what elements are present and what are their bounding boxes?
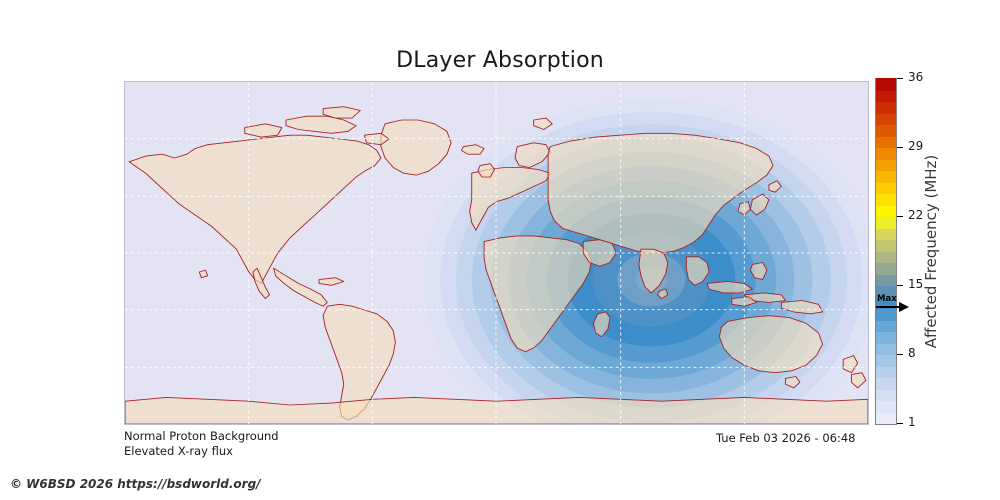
timestamp: Tue Feb 03 2026 - 06:48 bbox=[716, 431, 855, 445]
world-map[interactable] bbox=[124, 81, 869, 425]
page-title: DLayer Absorption bbox=[0, 48, 1000, 73]
note-xray-flux: Elevated X-ray flux bbox=[124, 444, 233, 458]
credit-line: © W6BSD 2026 https://bsdworld.org/ bbox=[10, 477, 261, 491]
colorbar-axis-label: Affected Frequency (MHz) bbox=[920, 78, 942, 425]
colorbar-tick-dash bbox=[897, 354, 903, 355]
map-gridlines bbox=[125, 82, 868, 424]
colorbar-tick-dash bbox=[897, 147, 903, 148]
colorbar-tick-dash bbox=[897, 423, 903, 424]
colorbar-tick-dash bbox=[897, 216, 903, 217]
colorbar-tick-label: 8 bbox=[908, 346, 916, 360]
colorbar-tick-dash bbox=[897, 285, 903, 286]
dlayer-absorption-map-page: DLayer Absorption bbox=[0, 0, 1000, 500]
colorbar-tick-label: 1 bbox=[908, 415, 916, 429]
colorbar-tick-dash bbox=[897, 78, 903, 79]
note-proton-background: Normal Proton Background bbox=[124, 429, 279, 443]
